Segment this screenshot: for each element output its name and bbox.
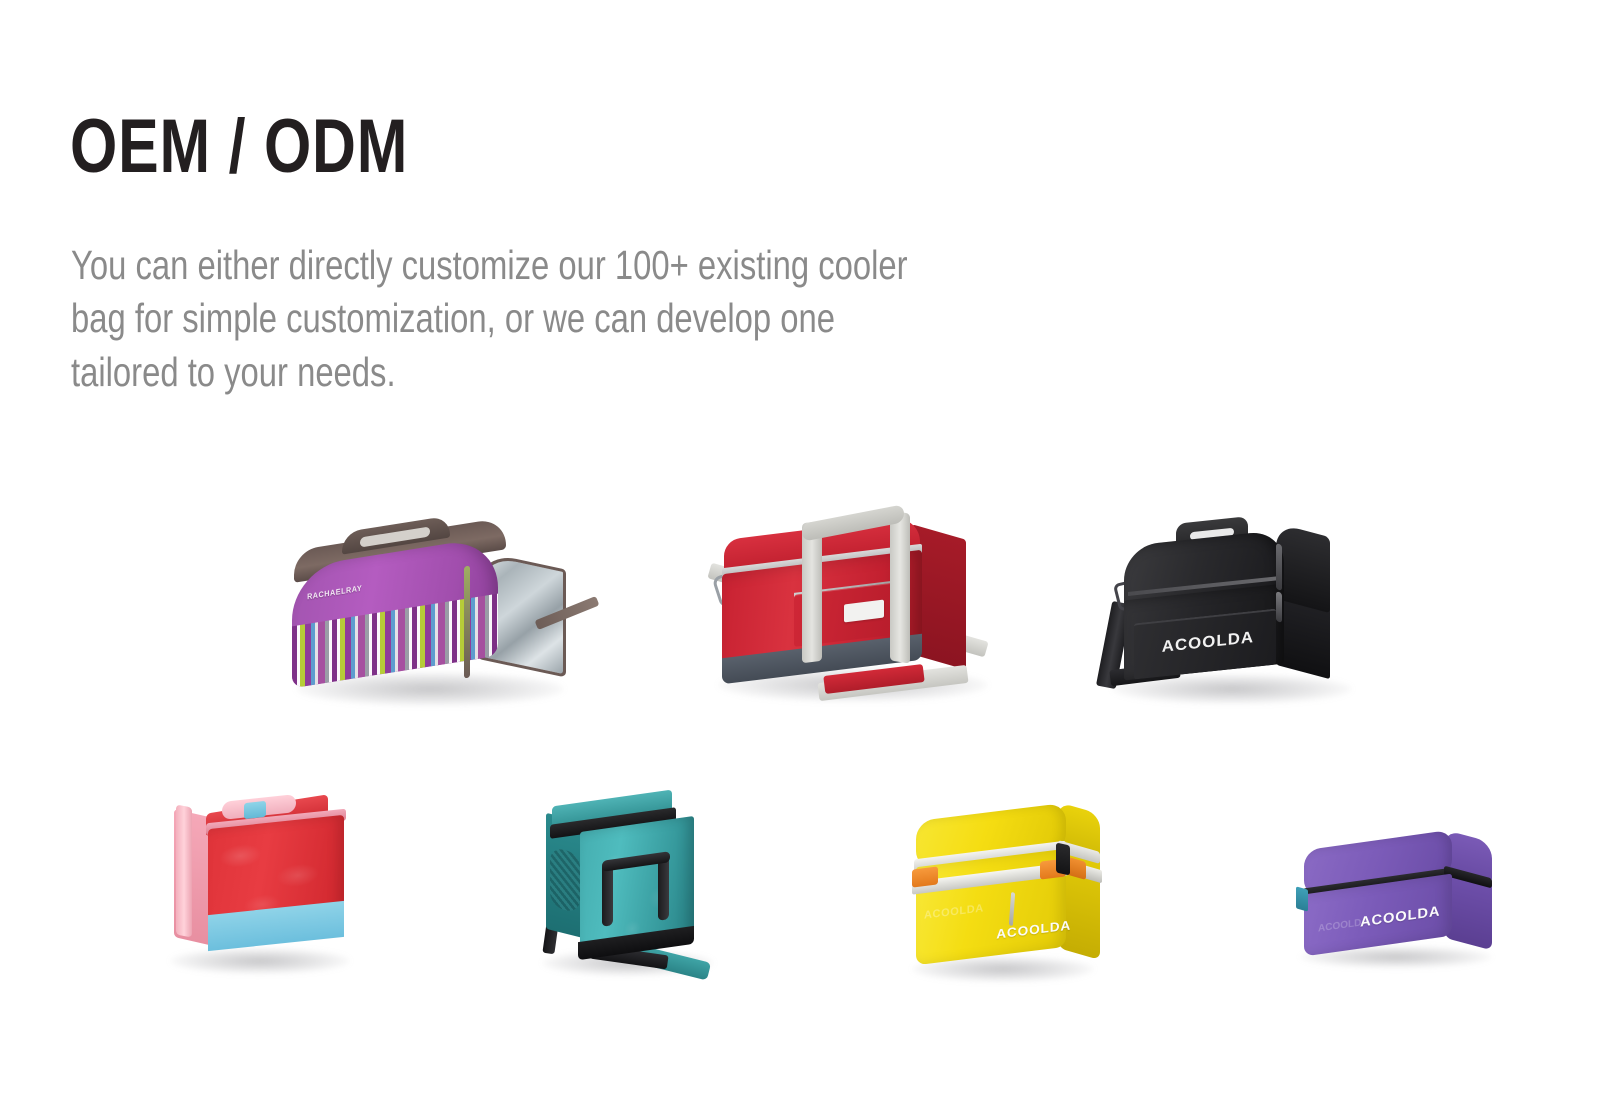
strap-buckle (1056, 843, 1070, 876)
upper-side-panel (1276, 523, 1330, 613)
carry-handle-right (890, 510, 910, 663)
orange-accent-left (912, 866, 938, 887)
handle-clip (244, 801, 266, 819)
bag-illustration: ACOOLDA ACOOLDA (1288, 834, 1503, 969)
bag-illustration: ACOOLDA (1098, 516, 1358, 706)
zipper (464, 566, 470, 679)
product-image-black-acoolda-cooler-bag[interactable]: ACOOLDA (1098, 516, 1358, 706)
page-title: OEM / ODM (70, 109, 408, 185)
side-zipper-top (1276, 543, 1282, 591)
zipper-pull-tab (1296, 886, 1308, 911)
product-image-purple-striped-cooler-bag[interactable]: RACHAELRAY (278, 524, 568, 704)
bag-illustration: ACOOLDA ACOOLDA (898, 806, 1108, 981)
mesh-side-pocket (550, 846, 580, 913)
product-image-purple-acoolda-lunch-box[interactable]: ACOOLDA ACOOLDA (1288, 834, 1503, 969)
product-image-red-cooler-bag[interactable] (698, 506, 998, 706)
bag-illustration (160, 796, 360, 976)
carry-handle-left (602, 861, 613, 927)
page-subtitle: You can either directly customize our 10… (71, 239, 1271, 399)
product-image-red-blue-cooler-bag[interactable] (160, 796, 360, 976)
carry-handle-right (658, 855, 669, 921)
side-zipper-bottom (1276, 591, 1282, 623)
product-image-teal-cooler-bag[interactable] (530, 784, 730, 979)
product-gallery: RACHAELRAY (0, 420, 1600, 1080)
carry-handle-left (802, 521, 822, 663)
drop-shadow (170, 948, 350, 974)
product-image-yellow-acoolda-cooler-box[interactable]: ACOOLDA ACOOLDA (898, 806, 1108, 981)
bag-illustration (530, 784, 730, 979)
carry-handle-left (176, 805, 192, 938)
bag-illustration: RACHAELRAY (278, 524, 568, 704)
bag-illustration (698, 506, 998, 706)
